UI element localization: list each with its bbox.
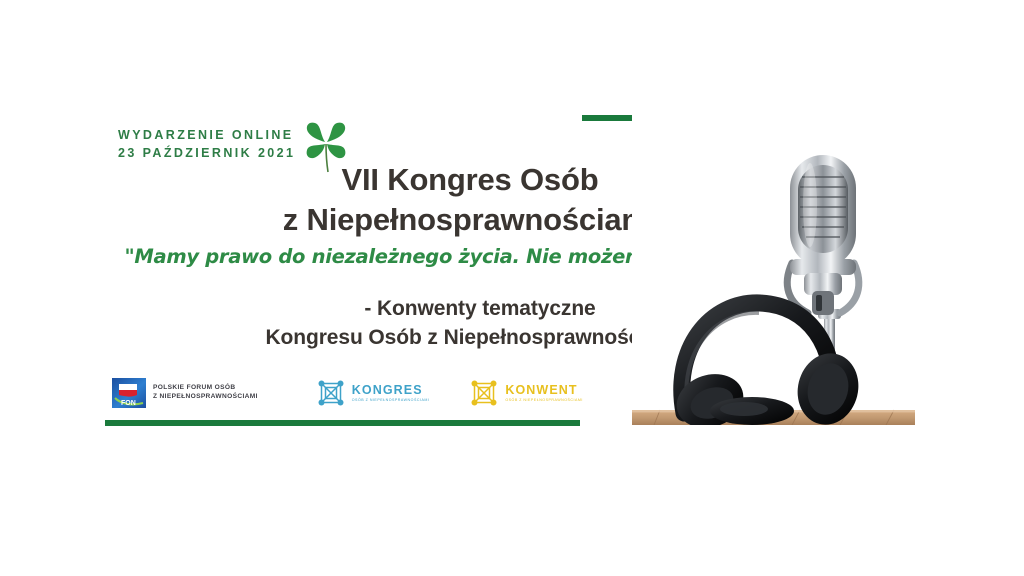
logo-konwent: KONWENT OSÓB Z NIEPEŁNOSPRAWNOŚCIAMI: [469, 378, 583, 408]
microphone-headphones-photo: [632, 113, 915, 425]
logo-kongres: KONGRES OSÓB Z NIEPEŁNOSPRAWNOŚCIAMI: [316, 378, 430, 408]
network-nodes-square-icon: [469, 378, 499, 408]
network-nodes-square-icon: [316, 378, 346, 408]
polish-flag-emblem-icon: FON: [112, 378, 146, 408]
event-online-label: WYDARZENIE ONLINE: [118, 126, 295, 144]
logo-kongres-text: KONGRES OSÓB Z NIEPEŁNOSPRAWNOŚCIAMI: [352, 384, 430, 403]
event-banner: WYDARZENIE ONLINE 23 PAŹDZIERNIK 2021 VI…: [0, 0, 1024, 576]
logo-pfon-line-1: POLSKIE FORUM OSÓB: [153, 384, 258, 393]
green-rule-bottom: [105, 420, 580, 426]
event-info-lines: WYDARZENIE ONLINE 23 PAŹDZIERNIK 2021: [118, 126, 295, 162]
logo-pfon-line-2: Z NIEPEŁNOSPRAWNOŚCIAMI: [153, 393, 258, 402]
svg-text:FON: FON: [121, 400, 136, 407]
logo-kongres-title: KONGRES: [352, 384, 430, 397]
logo-pfon-text: POLSKIE FORUM OSÓB Z NIEPEŁNOSPRAWNOŚCIA…: [153, 384, 258, 402]
logo-pfon: FON POLSKIE FORUM OSÓB Z NIEPEŁNOSPRAWNO…: [112, 378, 258, 408]
logo-kongres-subtitle: OSÓB Z NIEPEŁNOSPRAWNOŚCIAMI: [352, 398, 430, 402]
logo-konwent-subtitle: OSÓB Z NIEPEŁNOSPRAWNOŚCIAMI: [505, 398, 583, 402]
logo-konwent-text: KONWENT OSÓB Z NIEPEŁNOSPRAWNOŚCIAMI: [505, 384, 583, 403]
logo-konwent-title: KONWENT: [505, 384, 583, 397]
logo-row: FON POLSKIE FORUM OSÓB Z NIEPEŁNOSPRAWNO…: [112, 378, 583, 408]
